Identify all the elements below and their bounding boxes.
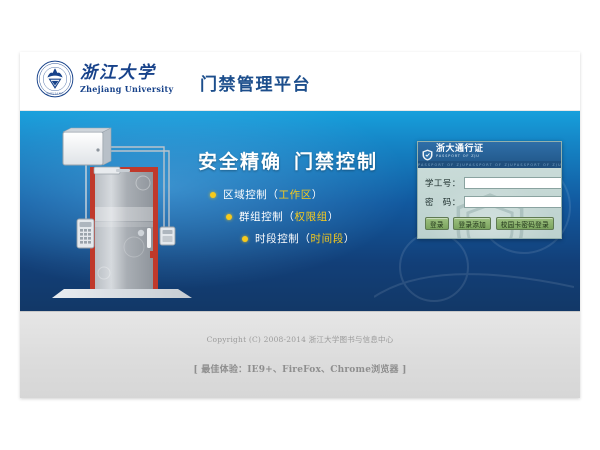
- banner-slogan: 安全精确门禁控制: [198, 147, 378, 174]
- login-button[interactable]: 登录: [425, 217, 449, 230]
- site-card: ZHEJIANG 浙江大学 Zhejiang University 门禁管理平台: [20, 52, 580, 398]
- banner-feature-list: 区域控制（工作区） 群组控制（权限组） 时段控制（时间段）: [210, 187, 355, 253]
- slogan-part-2: 门禁控制: [294, 151, 378, 173]
- campus-card-login-button[interactable]: 校园卡密码登录: [496, 217, 554, 230]
- footer-browser-hint: [ 最佳体验：IE9+、FireFox、Chrome浏览器 ]: [20, 362, 580, 375]
- list-item: 区域控制（工作区）: [210, 187, 355, 202]
- list-item: 群组控制（权限组）: [226, 209, 355, 224]
- feature-tail: ）: [344, 231, 355, 246]
- login-panel-title-en: PASSPORT OF ZJU: [436, 155, 484, 159]
- feature-label: 区域控制（: [223, 187, 279, 202]
- page-title: 门禁管理平台: [200, 70, 311, 95]
- shield-icon: [422, 146, 433, 158]
- bullet-dot-icon: [226, 214, 232, 220]
- brand-block: ZHEJIANG 浙江大学 Zhejiang University: [36, 60, 173, 98]
- login-button-row: 登录 登录添加 校园卡密码登录: [425, 217, 554, 230]
- feature-label: 群组控制（: [239, 209, 295, 224]
- brand-name-en: Zhejiang University: [80, 85, 173, 93]
- slogan-part-1: 安全精确: [198, 151, 282, 173]
- login-form: 学工号： 密 码： 登录 登录添加 校园卡密码登录: [418, 168, 561, 238]
- hero-banner: 安全精确门禁控制 区域控制（工作区） 群组控制（权限组） 时段控制（时间段）: [20, 111, 580, 311]
- feature-highlight: 工作区: [279, 187, 312, 202]
- zju-seal-icon: ZHEJIANG: [36, 60, 74, 98]
- login-panel-title-cn: 浙大通行证: [436, 145, 484, 154]
- login-add-button[interactable]: 登录添加: [453, 217, 491, 230]
- access-control-door-icon: [46, 123, 196, 303]
- login-panel: 浙大通行证 PASSPORT OF ZJU PASSPORT OF ZJU PA…: [417, 141, 562, 239]
- bullet-dot-icon: [242, 236, 248, 242]
- list-item: 时段控制（时间段）: [242, 231, 355, 246]
- bullet-dot-icon: [210, 192, 216, 198]
- feature-highlight: 权限组: [295, 209, 328, 224]
- page-root: ZHEJIANG 浙江大学 Zhejiang University 门禁管理平台: [0, 0, 600, 450]
- footer-copyright: Copyright (C) 2008-2014 浙江大学图书与信息中心: [20, 334, 580, 345]
- site-header: ZHEJIANG 浙江大学 Zhejiang University 门禁管理平台: [20, 52, 580, 111]
- strip-text: PASSPORT OF ZJU: [466, 163, 514, 167]
- form-row-userid: 学工号：: [425, 177, 554, 189]
- password-label: 密 码：: [425, 196, 464, 208]
- strip-text: PASSPORT OF ZJU: [514, 163, 561, 167]
- login-panel-header: 浙大通行证 PASSPORT OF ZJU: [418, 142, 561, 161]
- userid-input[interactable]: [464, 177, 562, 189]
- strip-text: PASSPORT OF ZJU: [418, 163, 466, 167]
- form-row-password: 密 码：: [425, 196, 554, 208]
- brand-text: 浙江大学 Zhejiang University: [80, 65, 173, 93]
- feature-highlight: 时间段: [311, 231, 344, 246]
- site-footer: Copyright (C) 2008-2014 浙江大学图书与信息中心 [ 最佳…: [20, 311, 580, 398]
- svg-text:ZHEJIANG: ZHEJIANG: [46, 92, 64, 96]
- password-input[interactable]: [464, 196, 562, 208]
- feature-tail: ）: [312, 187, 323, 202]
- feature-tail: ）: [328, 209, 339, 224]
- brand-name-cn: 浙江大学: [80, 65, 173, 82]
- feature-label: 时段控制（: [255, 231, 311, 246]
- login-panel-strip: PASSPORT OF ZJU PASSPORT OF ZJU PASSPORT…: [418, 161, 561, 168]
- userid-label: 学工号：: [425, 177, 464, 189]
